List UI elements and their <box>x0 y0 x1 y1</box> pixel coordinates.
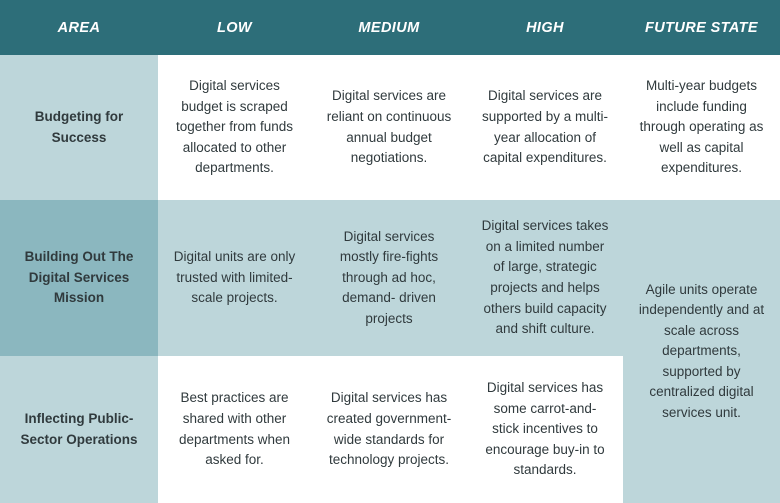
maturity-matrix-table: AREA LOW MEDIUM HIGH FUTURE STATE Budget… <box>0 0 780 503</box>
cell-inflecting-high: Digital services has some carrot-and-sti… <box>467 356 623 503</box>
column-header-low: LOW <box>158 0 311 55</box>
row-label-budgeting-for-success: Budgeting for Success <box>0 55 158 200</box>
table-body: Budgeting for Success Digital services b… <box>0 55 780 503</box>
column-header-future-state: FUTURE STATE <box>623 0 780 55</box>
cell-budgeting-medium: Digital services are reliant on continuo… <box>311 55 467 200</box>
row-label-inflecting-public-sector-operations: Inflecting Public-Sector Operations <box>0 356 158 503</box>
cell-inflecting-medium: Digital services has created government-… <box>311 356 467 503</box>
cell-building-high: Digital services takes on a limited numb… <box>467 200 623 356</box>
row-label-building-out-the-digital-services-mission: Building Out The Digital Services Missio… <box>0 200 158 356</box>
column-header-high: HIGH <box>467 0 623 55</box>
table-row: Budgeting for Success Digital services b… <box>0 55 780 200</box>
table-row: Building Out The Digital Services Missio… <box>0 200 780 356</box>
column-header-medium: MEDIUM <box>311 0 467 55</box>
cell-building-medium: Digital services mostly fire-fights thro… <box>311 200 467 356</box>
cell-merged-future-state: Agile units operate independently and at… <box>623 200 780 503</box>
cell-building-low: Digital units are only trusted with limi… <box>158 200 311 356</box>
column-header-area: AREA <box>0 0 158 55</box>
cell-budgeting-low: Digital services budget is scraped toget… <box>158 55 311 200</box>
cell-inflecting-low: Best practices are shared with other dep… <box>158 356 311 503</box>
cell-budgeting-high: Digital services are supported by a mult… <box>467 55 623 200</box>
header-row: AREA LOW MEDIUM HIGH FUTURE STATE <box>0 0 780 55</box>
cell-budgeting-future-state: Multi-year budgets include funding throu… <box>623 55 780 200</box>
table-header: AREA LOW MEDIUM HIGH FUTURE STATE <box>0 0 780 55</box>
